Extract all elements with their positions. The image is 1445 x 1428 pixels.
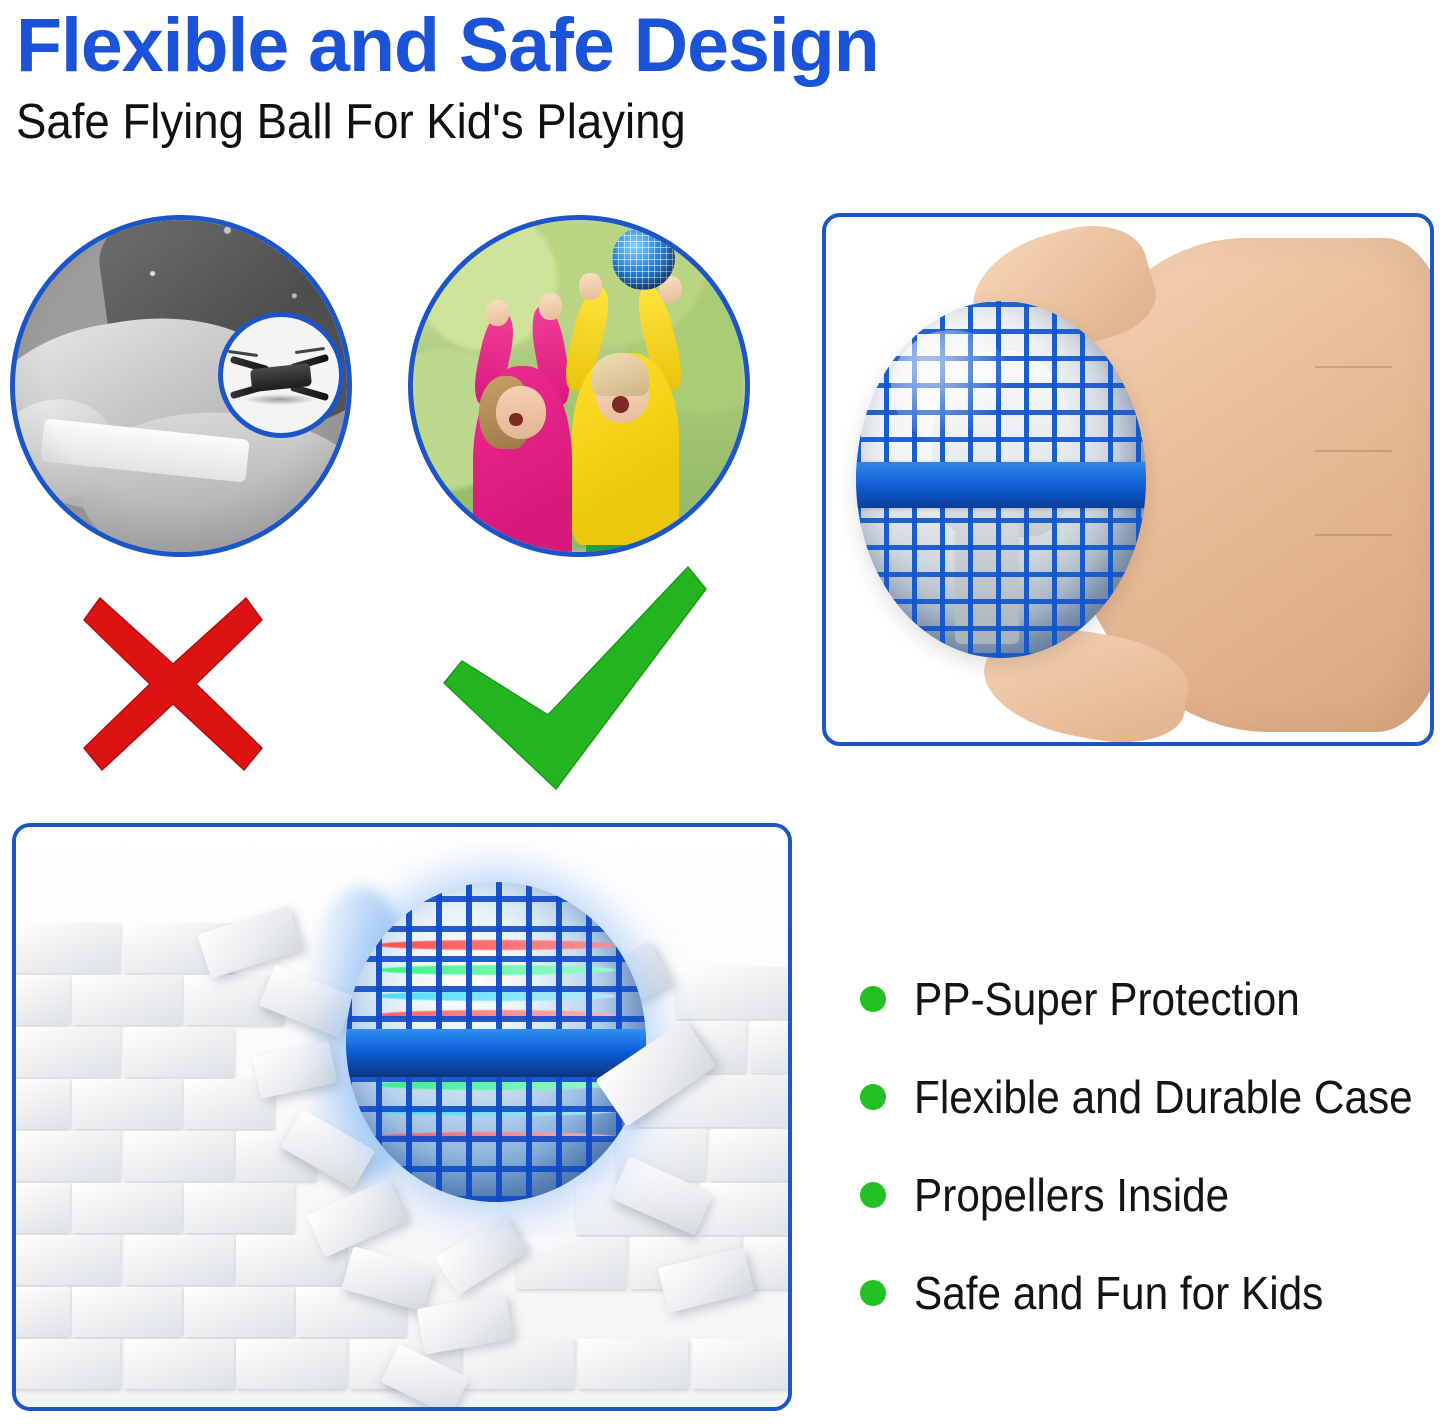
knuckle-crease bbox=[1315, 450, 1392, 452]
brick bbox=[12, 1027, 120, 1077]
knuckle-crease bbox=[1315, 366, 1392, 368]
girl-mouth bbox=[509, 413, 522, 426]
brick bbox=[700, 1183, 792, 1235]
ball-highlight bbox=[891, 330, 1013, 444]
brick bbox=[12, 1131, 120, 1181]
brick bbox=[750, 1021, 792, 1073]
brick bbox=[710, 1129, 792, 1181]
wall-smash-panel bbox=[12, 823, 792, 1411]
list-item: PP-Super Protection bbox=[860, 950, 1445, 1048]
brick bbox=[12, 1287, 70, 1337]
page-title: Flexible and Safe Design bbox=[16, 0, 1303, 88]
brick bbox=[72, 1183, 182, 1233]
bullet-dot-icon bbox=[860, 1280, 886, 1306]
header: Flexible and Safe Design Safe Flying Bal… bbox=[16, 0, 1316, 150]
drone-propeller bbox=[295, 347, 325, 355]
brick bbox=[12, 1339, 120, 1389]
list-item: Propellers Inside bbox=[860, 1146, 1445, 1244]
outdoor-photo bbox=[413, 220, 745, 552]
boy-hair bbox=[592, 353, 648, 396]
bullet-dot-icon bbox=[860, 1182, 886, 1208]
girl-hand-right bbox=[539, 293, 562, 320]
brick bbox=[578, 1339, 688, 1389]
feature-label: Flexible and Durable Case bbox=[914, 1072, 1413, 1122]
kids-playing-scene bbox=[413, 220, 745, 552]
flying-ball-toy bbox=[612, 227, 675, 290]
brick bbox=[72, 1079, 182, 1129]
feature-list: PP-Super Protection Flexible and Durable… bbox=[860, 950, 1445, 1342]
boy-hand-left bbox=[579, 273, 602, 300]
feature-label: Safe and Fun for Kids bbox=[914, 1268, 1323, 1318]
brick bbox=[72, 975, 182, 1025]
drone-inset-photo bbox=[218, 312, 344, 438]
brick bbox=[12, 975, 70, 1025]
brick bbox=[124, 1339, 234, 1389]
green-check-icon bbox=[430, 565, 710, 795]
boy-mouth bbox=[612, 396, 629, 413]
brick bbox=[124, 1235, 234, 1285]
list-item: Safe and Fun for Kids bbox=[860, 1244, 1445, 1342]
ball-equator-band bbox=[346, 1029, 646, 1077]
list-item: Flexible and Durable Case bbox=[860, 1048, 1445, 1146]
brick bbox=[464, 1339, 574, 1389]
feature-label: PP-Super Protection bbox=[914, 974, 1300, 1024]
brick bbox=[72, 1287, 182, 1337]
bullet-dot-icon bbox=[860, 1084, 886, 1110]
brick bbox=[516, 1237, 626, 1289]
brick bbox=[184, 1183, 294, 1233]
brick bbox=[676, 967, 792, 1019]
drone-shadow bbox=[242, 394, 319, 406]
brick bbox=[692, 1339, 792, 1389]
girl-face bbox=[496, 386, 546, 439]
bullet-dot-icon bbox=[860, 986, 886, 1012]
brick bbox=[236, 1339, 346, 1389]
brick bbox=[12, 923, 120, 973]
safe-example-photo bbox=[408, 215, 750, 557]
brick bbox=[124, 1027, 234, 1077]
hand-squeeze-panel bbox=[822, 213, 1434, 746]
red-cross-icon bbox=[78, 590, 268, 775]
brick bbox=[12, 1235, 120, 1285]
brick bbox=[12, 1079, 70, 1129]
ball-equator-band bbox=[856, 462, 1146, 508]
knuckle-crease bbox=[1315, 534, 1392, 536]
page-subtitle: Safe Flying Ball For Kid's Playing bbox=[16, 88, 1225, 150]
flying-ball-mesh bbox=[856, 301, 1146, 658]
feature-label: Propellers Inside bbox=[914, 1170, 1229, 1220]
led-flying-ball bbox=[346, 882, 646, 1202]
brick bbox=[124, 1131, 234, 1181]
brick bbox=[184, 1287, 294, 1337]
girl-hand-left bbox=[486, 300, 509, 327]
brick bbox=[12, 1183, 70, 1233]
